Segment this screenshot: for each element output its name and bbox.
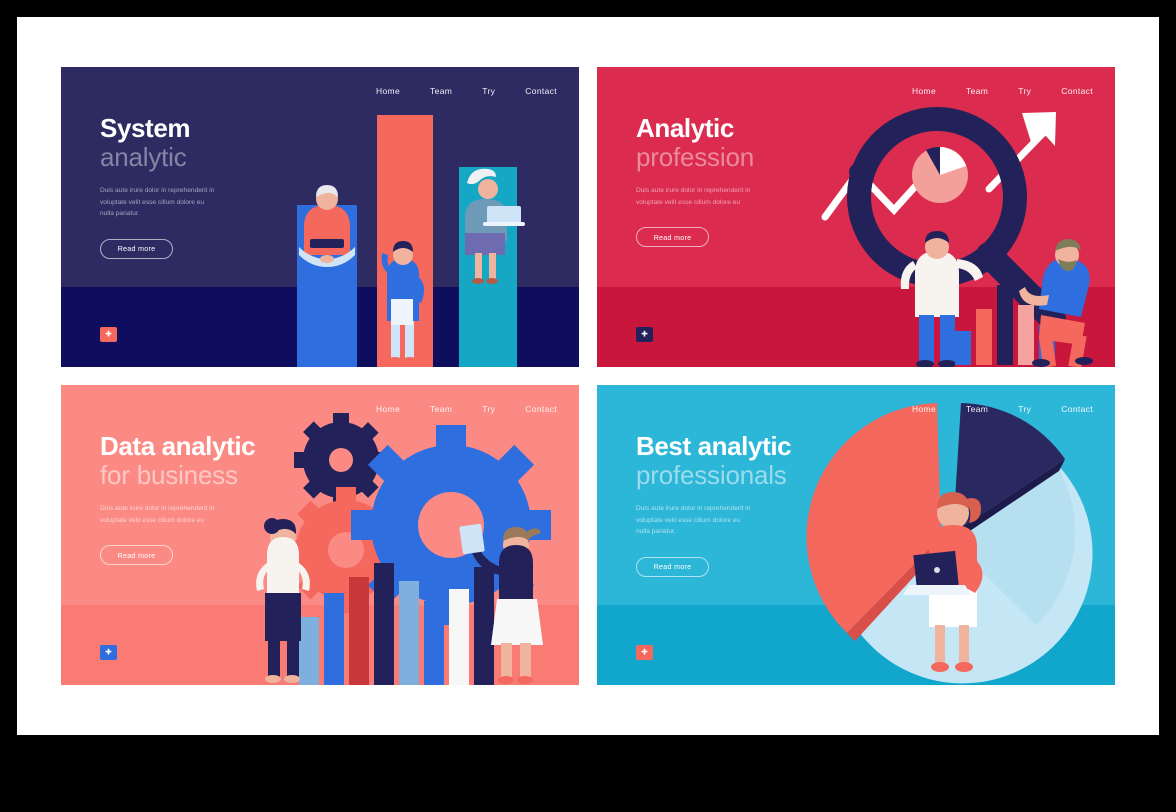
panel-nav[interactable]: Home Team Try Contact <box>376 404 557 414</box>
panel-blurb: Duis aute irure dolor in reprehenderit i… <box>636 185 754 208</box>
read-more-button[interactable]: Read more <box>636 227 709 247</box>
panel-copy: Data analytic for business Duis aute iru… <box>100 433 330 565</box>
panel-analytic-profession[interactable]: Home Team Try Contact Analytic professio… <box>597 67 1115 367</box>
plus-icon <box>640 648 649 657</box>
plus-icon <box>104 330 113 339</box>
bar-3 <box>349 577 369 685</box>
bar-4 <box>1018 305 1034 365</box>
panel-title-strong: Data analytic <box>100 433 330 461</box>
bar-1 <box>955 331 971 365</box>
nav-item-home[interactable]: Home <box>912 404 936 414</box>
nav-item-contact[interactable]: Contact <box>1061 86 1093 96</box>
nav-item-home[interactable]: Home <box>376 404 400 414</box>
nav-item-contact[interactable]: Contact <box>1061 404 1093 414</box>
plus-button[interactable] <box>100 645 117 660</box>
plus-button[interactable] <box>636 327 653 342</box>
bar-3 <box>997 285 1013 365</box>
panel-copy: Analytic profession Duis aute irure dolo… <box>636 115 866 247</box>
plus-icon <box>640 330 649 339</box>
nav-item-try[interactable]: Try <box>482 86 495 96</box>
plus-button[interactable] <box>100 327 117 342</box>
tablet-icon <box>459 524 485 555</box>
bar-4 <box>374 563 394 685</box>
nav-item-try[interactable]: Try <box>1018 86 1031 96</box>
bar-8 <box>474 567 494 685</box>
read-more-button[interactable]: Read more <box>100 239 173 259</box>
bar-5 <box>399 581 419 685</box>
bar-7 <box>449 589 469 685</box>
nav-item-team[interactable]: Team <box>430 86 452 96</box>
bar-1 <box>299 617 319 685</box>
panel-grid: Home Team Try Contact System analytic Du… <box>61 67 1115 687</box>
panel-title-strong: System <box>100 115 330 143</box>
plus-button[interactable] <box>636 645 653 660</box>
nav-item-contact[interactable]: Contact <box>525 404 557 414</box>
panel-copy: Best analytic professionals Duis aute ir… <box>636 433 866 577</box>
nav-item-team[interactable]: Team <box>966 404 988 414</box>
panel-best-analytic[interactable]: Home Team Try Contact Best analytic prof… <box>597 385 1115 685</box>
panel-title-strong: Best analytic <box>636 433 866 461</box>
nav-item-team[interactable]: Team <box>430 404 452 414</box>
bar-2 <box>976 309 992 365</box>
panel-nav[interactable]: Home Team Try Contact <box>912 404 1093 414</box>
panel-blurb: Duis aute irure dolor in reprehenderit i… <box>636 503 754 538</box>
bar-6 <box>424 601 444 685</box>
read-more-button[interactable]: Read more <box>636 557 709 577</box>
panel-system-analytic[interactable]: Home Team Try Contact System analytic Du… <box>61 67 579 367</box>
panel-nav[interactable]: Home Team Try Contact <box>376 86 557 96</box>
panel-data-analytic[interactable]: Home Team Try Contact Data analytic for … <box>61 385 579 685</box>
panel-blurb: Duis aute irure dolor in reprehenderit i… <box>100 185 218 220</box>
nav-item-try[interactable]: Try <box>482 404 495 414</box>
panel-title-light: for business <box>100 462 330 490</box>
plus-icon <box>104 648 113 657</box>
panel-blurb: Duis aute irure dolor in reprehenderit i… <box>100 503 218 526</box>
bar-2 <box>324 593 344 685</box>
panel-title-light: analytic <box>100 144 330 172</box>
panel-title-strong: Analytic <box>636 115 866 143</box>
canvas: Home Team Try Contact System analytic Du… <box>17 17 1159 735</box>
nav-item-team[interactable]: Team <box>966 86 988 96</box>
panel-copy: System analytic Duis aute irure dolor in… <box>100 115 330 259</box>
nav-item-home[interactable]: Home <box>912 86 936 96</box>
magnifier-pie-chart <box>912 147 968 203</box>
nav-item-home[interactable]: Home <box>376 86 400 96</box>
read-more-button[interactable]: Read more <box>100 545 173 565</box>
panel-nav[interactable]: Home Team Try Contact <box>912 86 1093 96</box>
panel-title-light: professionals <box>636 462 866 490</box>
nav-item-try[interactable]: Try <box>1018 404 1031 414</box>
panel-title-light: profession <box>636 144 866 172</box>
nav-item-contact[interactable]: Contact <box>525 86 557 96</box>
